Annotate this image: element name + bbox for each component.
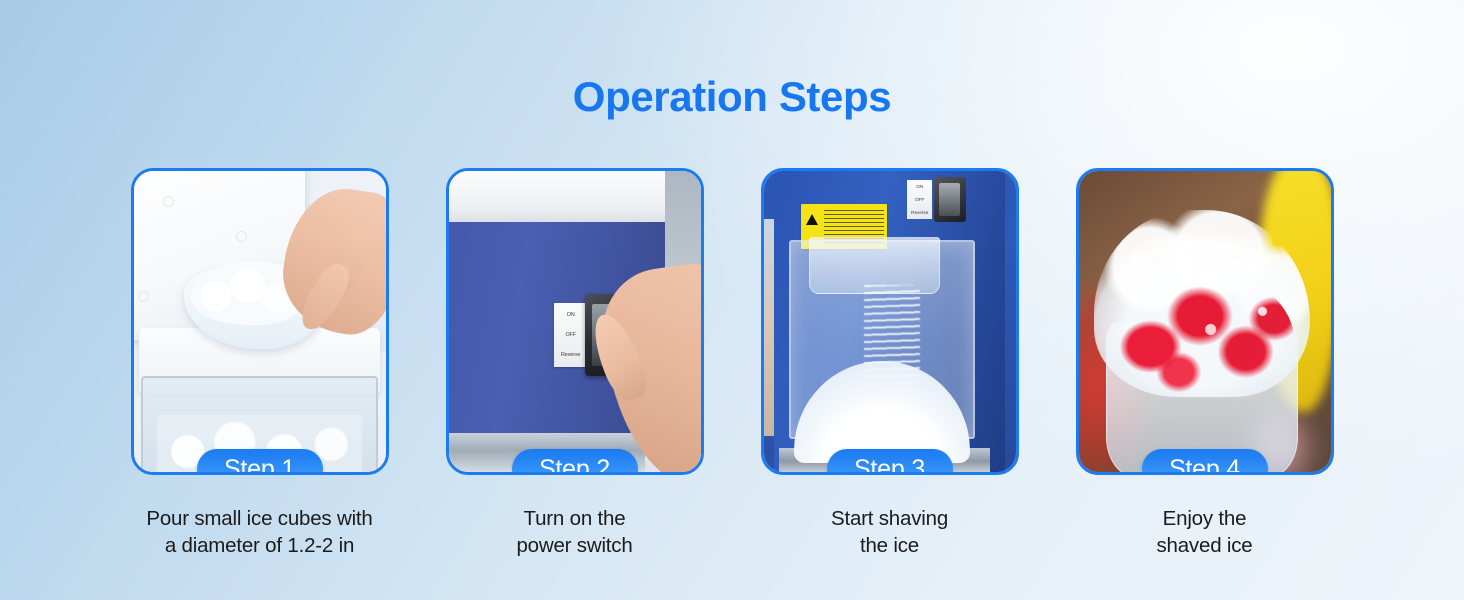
switch-label-reverse: Reverse: [911, 210, 928, 215]
warning-triangle-icon: [806, 214, 818, 225]
switch-label-panel: ON OFF Reverse: [554, 303, 587, 366]
switch-label-on: ON: [567, 312, 575, 318]
step-card-2: ON OFF Reverse I O F Step 2: [446, 168, 704, 475]
step-item-4: Step 4 Enjoy the shaved ice: [1076, 168, 1334, 559]
step-badge-2: Step 2: [512, 449, 638, 475]
lid-dot-icon: [138, 291, 149, 302]
power-switch-housing[interactable]: [934, 177, 967, 222]
rocker-switch[interactable]: [939, 183, 960, 216]
step-badge-4: Step 4: [1142, 449, 1268, 475]
ice-crystal-highlights: [1094, 210, 1311, 391]
lid-dot-icon: [236, 231, 247, 242]
step-card-1: Step 1: [131, 168, 389, 475]
machine-top-panel: [449, 171, 666, 225]
step-item-3: ON OFF Reverse Step 3 Start shaving the …: [761, 168, 1019, 559]
operation-steps-row: Step 1 Pour small ice cubes with a diame…: [0, 168, 1464, 559]
switch-label-reverse: Reverse: [561, 352, 580, 358]
step-3-photo: ON OFF Reverse: [764, 171, 1016, 472]
step-caption-4: Enjoy the shaved ice: [1156, 505, 1252, 559]
step-1-photo: [134, 171, 386, 472]
step-2-photo: ON OFF Reverse I O F: [449, 171, 701, 472]
step-caption-3: Start shaving the ice: [831, 505, 948, 559]
lid-dot-icon: [163, 196, 174, 207]
page-title: Operation Steps: [0, 76, 1464, 118]
step-caption-2: Turn on the power switch: [516, 505, 632, 559]
switch-label-off: OFF: [915, 197, 924, 202]
step-badge-1: Step 1: [197, 449, 323, 475]
switch-label-off: OFF: [565, 332, 575, 338]
step-caption-1: Pour small ice cubes with a diameter of …: [146, 505, 372, 559]
step-card-3: ON OFF Reverse Step 3: [761, 168, 1019, 475]
switch-label-panel: ON OFF Reverse: [907, 180, 932, 219]
step-item-2: ON OFF Reverse I O F Step 2 Turn on the …: [446, 168, 704, 559]
step-4-photo: [1079, 171, 1331, 472]
page-header: Operation Steps: [0, 0, 1464, 118]
step-item-1: Step 1 Pour small ice cubes with a diame…: [131, 168, 389, 559]
step-badge-3: Step 3: [827, 449, 953, 475]
step-card-4: Step 4: [1076, 168, 1334, 475]
switch-label-on: ON: [916, 184, 923, 189]
